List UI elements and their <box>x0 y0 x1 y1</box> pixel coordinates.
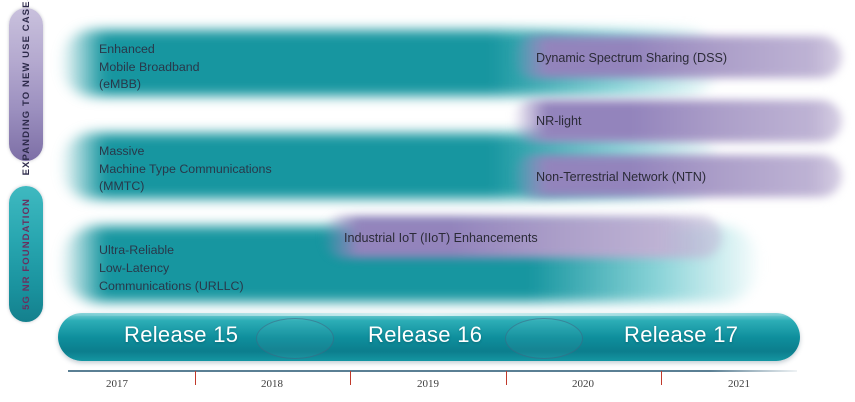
release-boundary-ellipse-16-17 <box>505 318 583 359</box>
axis-tick-2020-2021 <box>661 371 662 385</box>
band-label-mmtc-line3: (MMTC) <box>99 178 144 196</box>
band-label-embb-line1: Enhanced <box>99 41 155 59</box>
band-label-embb-line3: (eMBB) <box>99 76 141 94</box>
band-label-urllc-line1: Ultra-Reliable <box>99 242 174 260</box>
release-label-16: Release 16 <box>368 322 482 348</box>
side-category-expanding-to-new-use-cases: EXPANDING TO NEW USE CASES <box>9 8 43 161</box>
side-category-label: 5G NR FOUNDATION <box>21 198 32 310</box>
feature-label-nr-light: NR-light <box>536 114 582 128</box>
feature-label-ntn: Non-Terrestrial Network (NTN) <box>536 170 706 184</box>
diagram-canvas: EXPANDING TO NEW USE CASES 5G NR FOUNDAT… <box>0 0 855 402</box>
feature-label-dss: Dynamic Spectrum Sharing (DSS) <box>536 51 727 65</box>
axis-year-2019: 2019 <box>398 378 458 390</box>
axis-year-2020: 2020 <box>553 378 613 390</box>
axis-tick-2018-2019 <box>350 371 351 385</box>
band-label-urllc-line2: Low-Latency <box>99 260 169 278</box>
release-timeline-bar: Release 15 Release 16 Release 17 <box>58 313 800 361</box>
band-label-mmtc-line2: Machine Type Communications <box>99 161 272 179</box>
side-category-label: EXPANDING TO NEW USE CASES <box>21 0 32 176</box>
band-label-mmtc-line1: Massive <box>99 143 144 161</box>
axis-year-2018: 2018 <box>242 378 302 390</box>
release-boundary-ellipse-15-16 <box>256 318 334 359</box>
band-label-urllc-line3: Communications (URLLC) <box>99 278 244 296</box>
band-label-embb-line2: Mobile Broadband <box>99 59 200 77</box>
axis-tick-2017-2018 <box>195 371 196 385</box>
side-category-5g-nr-foundation: 5G NR FOUNDATION <box>9 186 43 322</box>
axis-year-2021: 2021 <box>709 378 769 390</box>
release-label-15: Release 15 <box>124 322 238 348</box>
feature-label-iiot: Industrial IoT (IIoT) Enhancements <box>344 231 538 245</box>
release-label-17: Release 17 <box>624 322 738 348</box>
axis-year-2017: 2017 <box>87 378 147 390</box>
timeline-axis-line <box>68 370 797 372</box>
axis-tick-2019-2020 <box>506 371 507 385</box>
